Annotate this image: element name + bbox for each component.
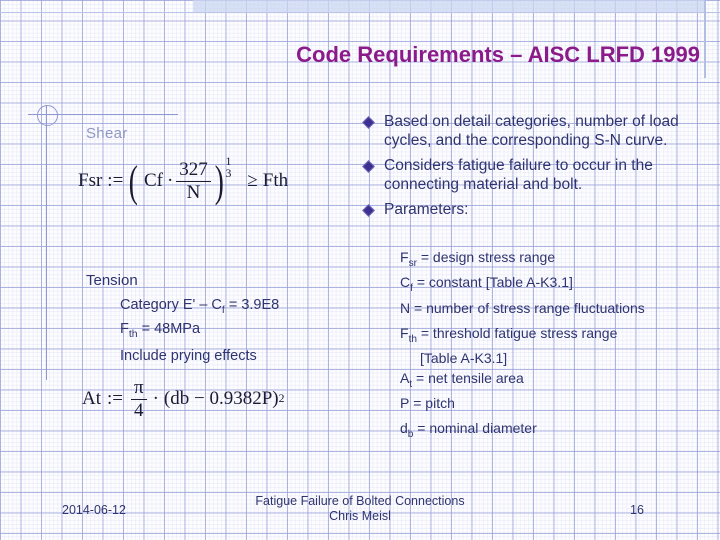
list-item: Fsr = design stress range — [400, 248, 710, 273]
param-symbol: d — [400, 420, 408, 436]
tension-category-prefix: Category E' – C — [120, 297, 222, 313]
list-item: N = number of stress range fluctuations — [400, 299, 710, 324]
list-item: At = net tensile area — [400, 369, 710, 394]
param-description: = net tensile area — [412, 370, 524, 386]
param-symbol: A — [400, 370, 409, 386]
param-symbol: C — [400, 274, 410, 290]
parameter-definition-list: Fsr = design stress range Cf = constant … — [400, 248, 710, 445]
tension-fth-suffix: = 48MPa — [138, 321, 200, 337]
param-symbol: F — [400, 249, 409, 265]
param-symbol: N — [400, 300, 410, 316]
list-item: db = nominal diameter — [400, 419, 710, 444]
net-tensile-area-equation: At := π 4 · (db − 0.9382P) 2 — [82, 378, 285, 421]
eq-at-exponent: 2 — [279, 392, 285, 406]
tension-fth-line: Fth = 48MPa — [120, 321, 200, 340]
eq-fsr-numerator: 327 — [176, 160, 211, 180]
eq-at-denominator: 4 — [131, 401, 147, 421]
eq-fsr-denominator: N — [184, 183, 204, 203]
circle-mark-icon — [37, 105, 58, 126]
param-description: = number of stress range fluctuations — [410, 300, 645, 316]
shear-equation: Fsr := ( Cf · 327 N ) 1 3 ≥ Fth — [78, 160, 288, 203]
eq-at-fraction: π 4 — [131, 378, 147, 421]
eq-at-numerator: π — [131, 378, 147, 398]
param-description: = design stress range — [417, 249, 555, 265]
footer-center: Fatigue Failure of Bolted Connections Ch… — [180, 494, 540, 524]
diamond-bullet-icon — [362, 160, 375, 173]
eq-fsr-fraction: 327 N — [176, 160, 211, 203]
list-item: Cf = constant [Table A-K3.1] — [400, 273, 710, 298]
list-item: Based on detail categories, number of lo… — [364, 112, 706, 151]
param-description: = constant [Table A-K3.1] — [413, 274, 573, 290]
param-symbol: F — [400, 325, 409, 341]
top-horizontal-rule — [0, 12, 720, 13]
top-blue-band — [193, 0, 705, 12]
eq-fsr-lhs: Fsr — [78, 170, 102, 192]
eq-fsr-comparator: ≥ — [247, 170, 257, 192]
list-item: Considers fatigue failure to occur in th… — [364, 156, 706, 195]
param-subscript: sr — [409, 258, 417, 269]
tension-category-suffix: = 3.9E8 — [225, 297, 279, 313]
footer-date: 2014-06-12 — [62, 503, 126, 517]
vertical-guide-line — [46, 105, 47, 380]
bullet-list: Based on detail categories, number of lo… — [364, 112, 706, 224]
slide-canvas: Code Requirements – AISC LRFD 1999 Shear… — [0, 0, 720, 540]
tension-fth-sub: th — [129, 329, 138, 340]
eq-fsr-assign: := — [107, 170, 123, 192]
footer-author: Chris Meisl — [180, 509, 540, 524]
diamond-bullet-icon — [362, 116, 375, 129]
param-subscript: th — [409, 334, 417, 345]
list-item: P = pitch — [400, 394, 710, 419]
eq-fsr-dot: · — [167, 170, 173, 192]
list-item: [Table A-K3.1] — [400, 349, 710, 369]
eq-fsr-exp-denominator: 3 — [225, 168, 231, 180]
tension-fth-prefix: F — [120, 321, 129, 337]
horizontal-guide-line — [28, 114, 178, 115]
eq-fsr-cf: Cf — [144, 170, 163, 192]
param-description: [Table A-K3.1] — [420, 350, 507, 366]
slide-title: Code Requirements – AISC LRFD 1999 — [60, 42, 700, 68]
bullet-text: Considers fatigue failure to occur in th… — [384, 156, 706, 195]
param-description: = pitch — [409, 395, 455, 411]
footer-page-number: 16 — [630, 503, 670, 517]
list-item: Fth = threshold fatigue stress range — [400, 324, 710, 349]
diamond-bullet-icon — [362, 204, 375, 217]
param-description: = nominal diameter — [413, 420, 536, 436]
close-paren: ) — [215, 168, 224, 195]
eq-at-dot: · — [153, 388, 159, 410]
eq-fsr-exponent: 1 3 — [225, 156, 231, 181]
tension-prying-line: Include prying effects — [120, 348, 257, 364]
eq-at-assign: := — [107, 388, 123, 410]
open-paren: ( — [129, 168, 138, 195]
bullet-text: Parameters: — [384, 200, 706, 219]
shear-heading: Shear — [86, 125, 128, 142]
footer-presentation-title: Fatigue Failure of Bolted Connections — [180, 494, 540, 509]
tension-heading: Tension — [86, 272, 138, 289]
eq-fsr-rhs: Fth — [263, 170, 288, 192]
top-right-vertical-rule — [704, 0, 706, 78]
list-item: Parameters: — [364, 200, 706, 219]
eq-at-lhs: At — [82, 388, 101, 410]
eq-at-body: (db − 0.9382P) — [164, 388, 279, 410]
tension-category-line: Category E' – Cf = 3.9E8 — [120, 297, 279, 316]
param-description: = threshold fatigue stress range — [417, 325, 617, 341]
param-symbol: P — [400, 395, 409, 411]
bullet-text: Based on detail categories, number of lo… — [384, 112, 706, 151]
